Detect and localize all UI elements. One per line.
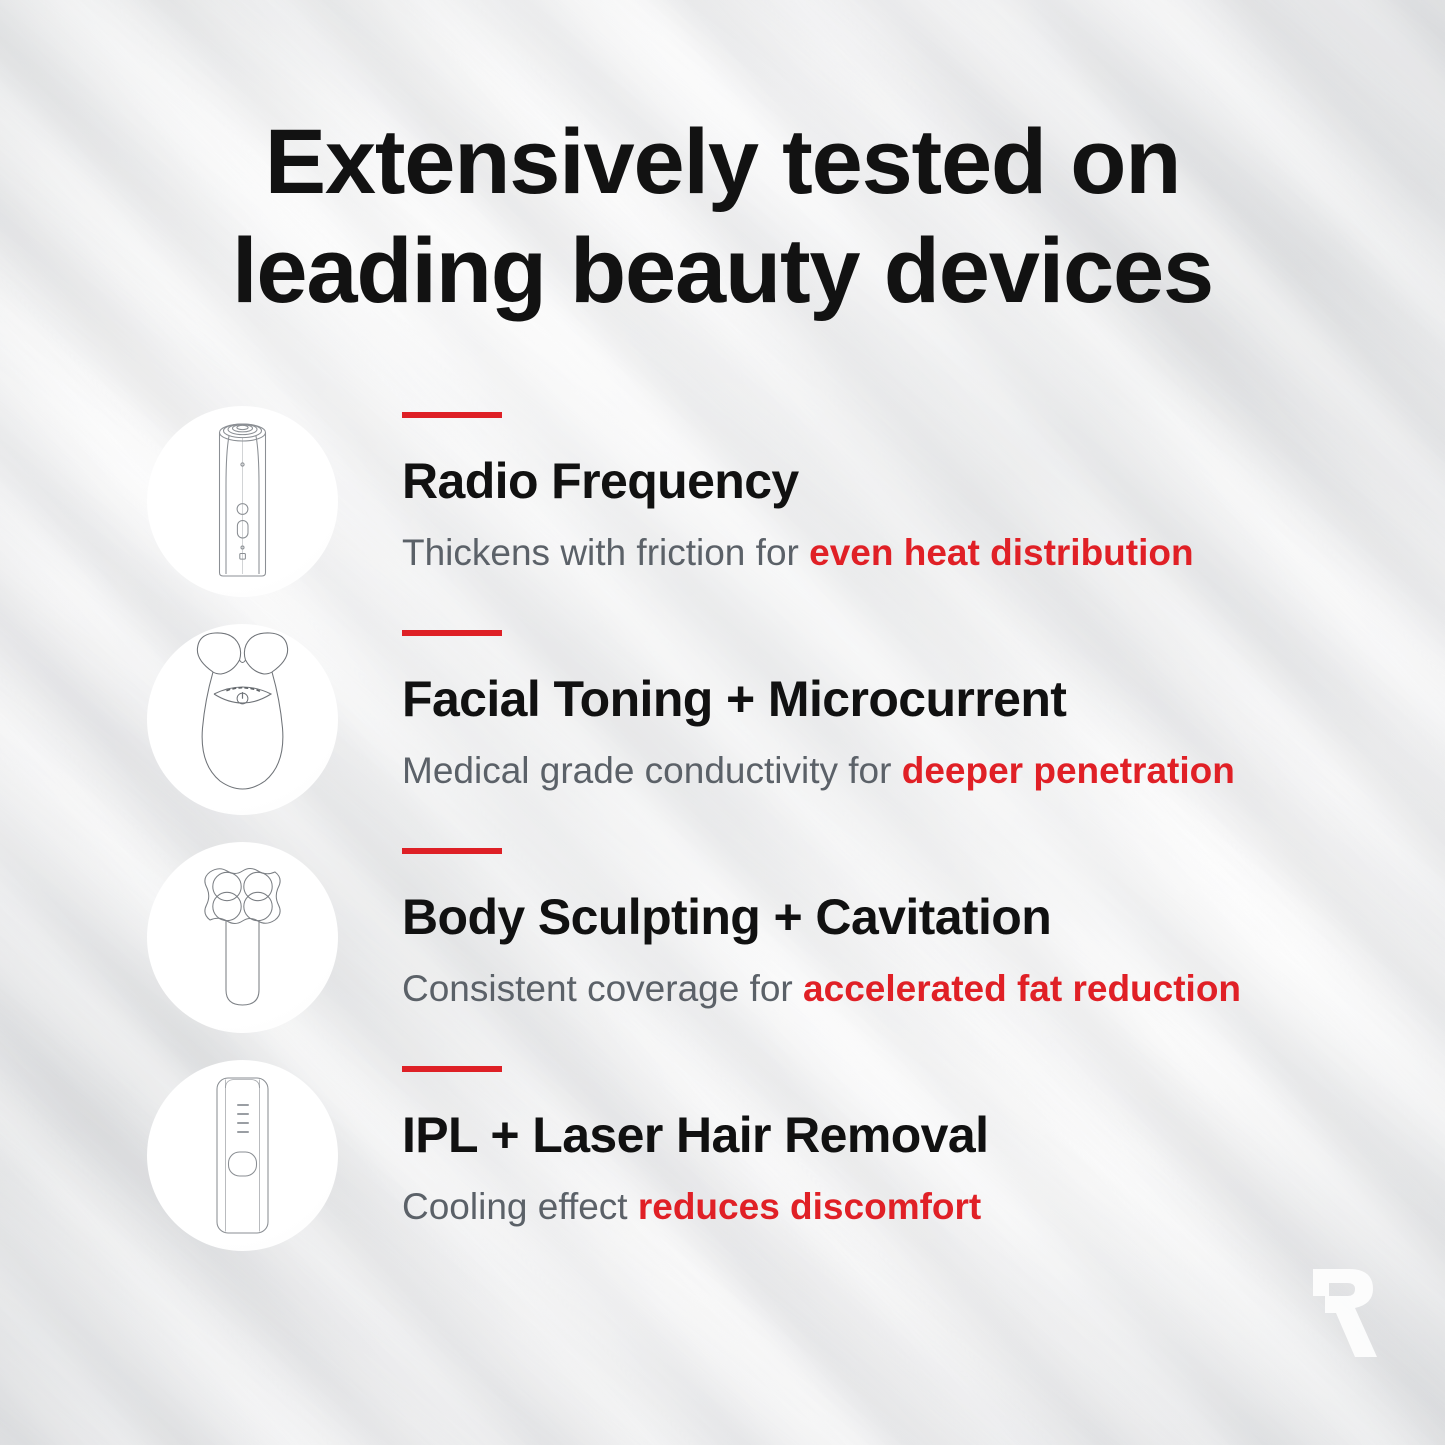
- body-sculpting-device-icon: [147, 842, 338, 1033]
- feature-subtitle: Medical grade conductivity for deeper pe…: [402, 752, 1405, 789]
- rf-wand-icon: [147, 406, 338, 597]
- feature-subtitle: Cooling effect reduces discomfort: [402, 1188, 1405, 1225]
- feature-text-block: Radio Frequency Thickens with friction f…: [402, 398, 1405, 571]
- feature-icon-container: [147, 624, 338, 815]
- feature-icon-container: [147, 842, 338, 1033]
- red-accent-dash: [402, 412, 502, 418]
- feature-row: Facial Toning + Microcurrent Medical gra…: [0, 616, 1445, 834]
- red-accent-dash: [402, 630, 502, 636]
- feature-subtitle-plain: Consistent coverage for: [402, 968, 803, 1009]
- infographic-canvas: Extensively tested on leading beauty dev…: [0, 0, 1445, 1445]
- red-accent-dash: [402, 1066, 502, 1072]
- feature-subtitle: Consistent coverage for accelerated fat …: [402, 970, 1405, 1007]
- feature-row: IPL + Laser Hair Removal Cooling effect …: [0, 1052, 1445, 1270]
- headline-line-2: leading beauty devices: [120, 217, 1325, 326]
- feature-title: Radio Frequency: [402, 456, 1405, 506]
- ipl-handset-icon: [147, 1060, 338, 1251]
- feature-title: IPL + Laser Hair Removal: [402, 1110, 1405, 1160]
- page-headline: Extensively tested on leading beauty dev…: [0, 108, 1445, 325]
- feature-title: Facial Toning + Microcurrent: [402, 674, 1405, 724]
- headline-line-1: Extensively tested on: [120, 108, 1325, 217]
- feature-text-block: IPL + Laser Hair Removal Cooling effect …: [402, 1052, 1405, 1225]
- feature-subtitle-plain: Thickens with friction for: [402, 532, 809, 573]
- facial-toning-device-icon: [147, 624, 338, 815]
- feature-subtitle-highlight: deeper penetration: [902, 750, 1235, 791]
- feature-icon-container: [147, 1060, 338, 1251]
- feature-subtitle-highlight: reduces discomfort: [638, 1186, 981, 1227]
- feature-subtitle: Thickens with friction for even heat dis…: [402, 534, 1405, 571]
- feature-subtitle-highlight: accelerated fat reduction: [803, 968, 1241, 1009]
- feature-row: Body Sculpting + Cavitation Consistent c…: [0, 834, 1445, 1052]
- feature-list: Radio Frequency Thickens with friction f…: [0, 398, 1445, 1270]
- feature-title: Body Sculpting + Cavitation: [402, 892, 1405, 942]
- feature-icon-container: [147, 406, 338, 597]
- feature-text-block: Body Sculpting + Cavitation Consistent c…: [402, 834, 1405, 1007]
- feature-row: Radio Frequency Thickens with friction f…: [0, 398, 1445, 616]
- feature-subtitle-highlight: even heat distribution: [809, 532, 1193, 573]
- feature-subtitle-plain: Medical grade conductivity for: [402, 750, 902, 791]
- brand-logo-r-icon: [1305, 1263, 1383, 1363]
- feature-text-block: Facial Toning + Microcurrent Medical gra…: [402, 616, 1405, 789]
- feature-subtitle-plain: Cooling effect: [402, 1186, 638, 1227]
- red-accent-dash: [402, 848, 502, 854]
